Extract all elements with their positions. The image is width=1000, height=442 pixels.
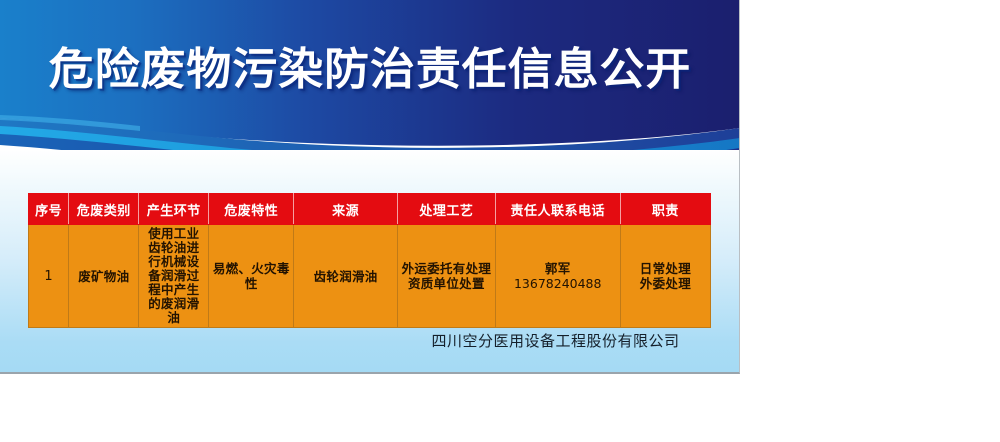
responsible-person-phone: 13678240488 [499,276,617,291]
information-disclosure-poster: 危险废物污染防治责任信息公开 序号 危废类别 产生环节 危废特性 来源 处理工艺… [0,0,740,374]
table-row: 1 废矿物油 使用工业齿轮油进行机械设备润滑过程中产生的废润滑油 易燃、火灾毒性… [29,225,711,328]
responsible-person-name: 郭军 [499,261,617,276]
duty-line-2: 外委处理 [624,276,707,291]
column-header-category: 危废类别 [69,194,139,225]
column-header-source: 来源 [294,194,398,225]
duty-line-1: 日常处理 [624,261,707,276]
hazardous-waste-table: 序号 危废类别 产生环节 危废特性 来源 处理工艺 责任人联系电话 职责 1 废… [28,193,711,328]
column-header-duty: 职责 [620,194,710,225]
cell-responsible-contact: 郭军 13678240488 [495,225,620,328]
column-header-generation-stage: 产生环节 [139,194,209,225]
cell-duty: 日常处理 外委处理 [620,225,710,328]
company-name: 四川空分医用设备工程股份有限公司 [400,330,711,351]
banner-graphic [0,0,740,166]
column-header-index: 序号 [29,194,69,225]
cell-category: 废矿物油 [69,225,139,328]
column-header-responsible-phone: 责任人联系电话 [495,194,620,225]
column-header-treatment-process: 处理工艺 [398,194,496,225]
column-header-hazard-property: 危废特性 [209,194,294,225]
poster-banner: 危险废物污染防治责任信息公开 [0,0,740,166]
cell-treatment-process: 外运委托有处理资质单位处置 [398,225,496,328]
cell-generation-stage: 使用工业齿轮油进行机械设备润滑过程中产生的废润滑油 [139,225,209,328]
cell-index: 1 [29,225,69,328]
cell-source: 齿轮润滑油 [294,225,398,328]
cell-hazard-property: 易燃、火灾毒性 [209,225,294,328]
table-header-row: 序号 危废类别 产生环节 危废特性 来源 处理工艺 责任人联系电话 职责 [29,194,711,225]
